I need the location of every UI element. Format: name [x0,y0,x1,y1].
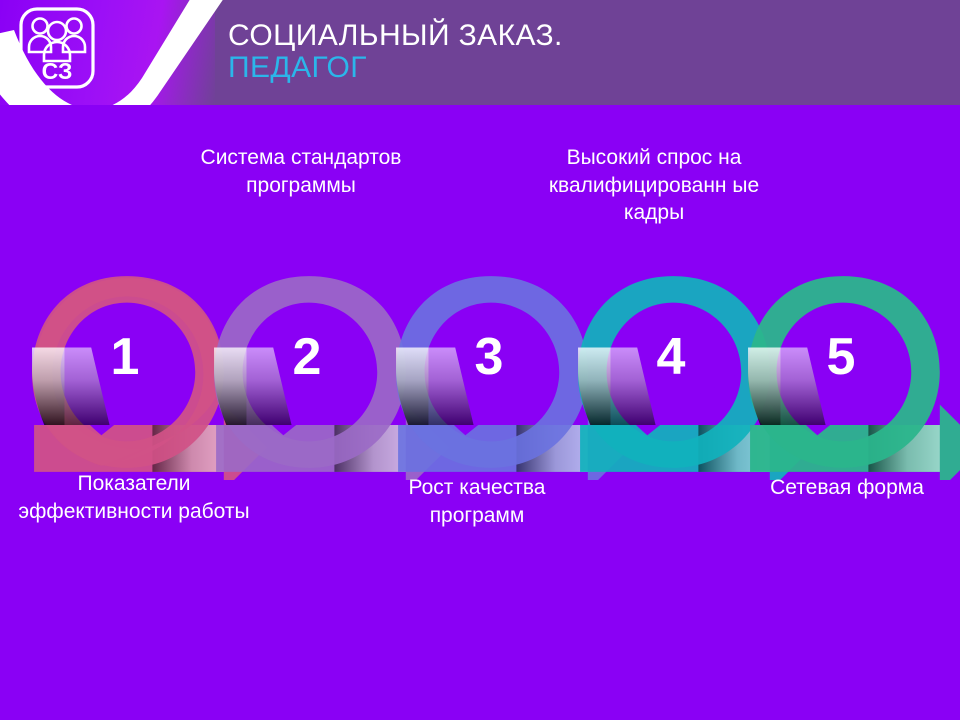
label-high-demand: Высокий спрос на квалифицированн ые кадр… [528,144,780,227]
label-system-of-standards: Система стандартов программы [196,144,406,199]
group-of-people-icon [29,19,85,62]
title-line-1: СОЦИАЛЬНЫЙ ЗАКАЗ. [228,20,563,52]
process-ribbon-diagram: 1 2 3 [0,250,960,480]
slide-canvas: СЗ СОЦИАЛЬНЫЙ ЗАКАЗ. ПЕДАГОГ [0,0,960,720]
step-2-number: 2 [293,328,322,386]
step-5-ribbon[interactable]: 5 [748,276,960,480]
label-program-quality-growth: Рост качества программ [362,474,592,529]
label-network-form: Сетевая форма [752,474,942,502]
page-title: СОЦИАЛЬНЫЙ ЗАКАЗ. ПЕДАГОГ [228,20,563,84]
step-4-number: 4 [657,328,686,386]
step-5-number: 5 [827,328,856,386]
label-performance-indicators: Показатели эффективности работы [18,470,250,525]
logo-sz: СЗ [18,6,96,90]
step-3-number: 3 [475,328,504,386]
step-1-number: 1 [111,328,140,386]
logo-text: СЗ [42,58,73,84]
title-line-2: ПЕДАГОГ [228,52,563,84]
